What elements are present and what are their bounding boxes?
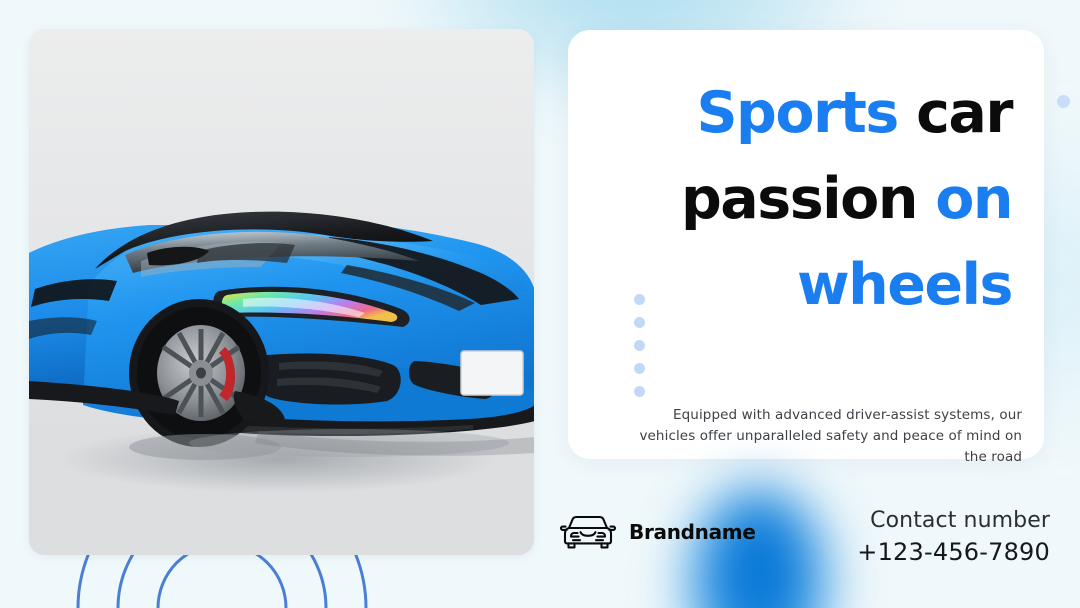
body-paragraph: Equipped with advanced driver-assist sys…	[622, 405, 1022, 468]
headline-word-car: car	[898, 80, 1012, 146]
contact-number[interactable]: +123-456-7890	[857, 536, 1050, 568]
dot-list-decoration	[634, 294, 645, 397]
dot-2	[634, 317, 645, 328]
dot-3	[634, 340, 645, 351]
headline-word-passion: passion	[681, 166, 935, 232]
dot-1	[634, 294, 645, 305]
poster-canvas: Sports car passion on wheels Equipped wi…	[0, 0, 1080, 608]
dot-4	[634, 363, 645, 374]
page-title: Sports car passion on wheels	[600, 70, 1012, 328]
headline-word-wheels: wheels	[797, 252, 1012, 318]
edge-dot-decoration	[1057, 95, 1070, 108]
car-front-icon	[560, 512, 616, 552]
dot-5	[634, 386, 645, 397]
headline-word-sports: Sports	[696, 80, 897, 146]
headline-card: Sports car passion on wheels Equipped wi…	[568, 30, 1044, 459]
contact-label: Contact number	[857, 505, 1050, 536]
contact-block: Contact number +123-456-7890	[857, 505, 1050, 568]
headline-word-on: on	[935, 166, 1012, 232]
car-photo	[29, 29, 534, 555]
brand-name: Brandname	[629, 520, 756, 544]
brand-lockup: Brandname	[560, 512, 756, 552]
